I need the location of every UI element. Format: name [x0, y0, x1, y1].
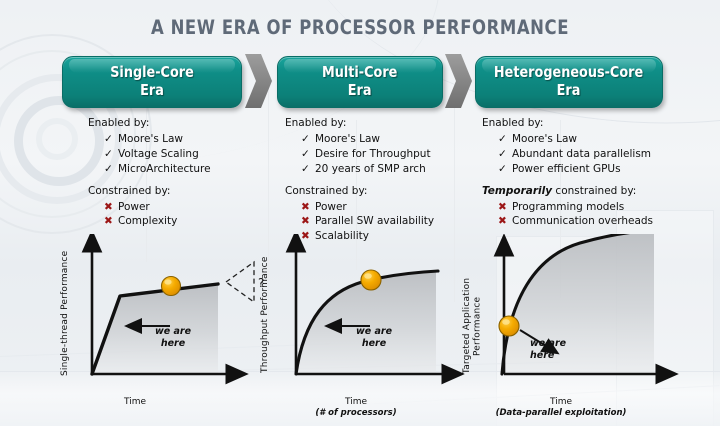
list-item-label: 20 years of SMP arch: [315, 163, 426, 175]
check-icon: ✓: [104, 147, 113, 162]
check-icon: ✓: [301, 147, 310, 162]
cross-icon: ✖: [301, 214, 310, 229]
list-item: ✓Moore's Law: [104, 132, 278, 147]
list-item: ✖Power: [104, 200, 278, 215]
era-box-label-line1: Heterogeneous-Core: [494, 63, 643, 81]
list-item: ✓20 years of SMP arch: [301, 162, 485, 177]
chart-annotation-we-are-here: we are here: [340, 326, 408, 349]
cross-icon: ✖: [104, 214, 113, 229]
list-item: ✓Moore's Law: [498, 132, 712, 147]
slide-canvas: A NEW ERA OF PROCESSOR PERFORMANCE Singl…: [0, 0, 720, 426]
list-item-label: Power efficient GPUs: [512, 163, 621, 175]
annotation-line2: here: [161, 338, 185, 349]
chart-y-axis-label: Single-thread Performance: [60, 238, 71, 388]
page-title: A NEW ERA OF PROCESSOR PERFORMANCE: [22, 16, 699, 39]
chart-x-axis-label: Time: [30, 397, 240, 407]
enabled-header: Enabled by:: [482, 116, 712, 131]
chart-annotation-we-are-here: we are here: [138, 326, 208, 349]
era-box-label-line1: Single-Core: [110, 63, 194, 81]
list-item-label: Moore's Law: [315, 133, 380, 145]
bullets-multi-core: Enabled by: ✓Moore's Law ✓Desire for Thr…: [285, 116, 485, 244]
list-item: ✓MicroArchitecture: [104, 162, 278, 177]
era-box-heterogeneous-core[interactable]: Heterogeneous-Core Era: [475, 56, 663, 108]
enabled-list: ✓Moore's Law ✓Voltage Scaling ✓MicroArch…: [88, 132, 278, 177]
list-item: ✖Communication overheads: [498, 214, 712, 229]
enabled-header: Enabled by:: [285, 116, 485, 131]
chart-y-axis-label: Targeted Application Performance: [462, 270, 483, 382]
bullets-heterogeneous-core: Enabled by: ✓Moore's Law ✓Abundant data …: [482, 116, 712, 229]
check-icon: ✓: [498, 147, 507, 162]
enabled-list: ✓Moore's Law ✓Abundant data parallelism …: [482, 132, 712, 177]
chart-y-axis-label: Throughput Performance: [260, 240, 271, 390]
cross-icon: ✖: [104, 200, 113, 215]
annotation-line1: we are: [155, 326, 191, 337]
y-axis-label-line1: Targeted Application: [462, 278, 472, 374]
chart-single-thread-performance: Single-thread Performance we are here ? …: [58, 234, 268, 414]
list-item: ✓Desire for Throughput: [301, 147, 485, 162]
chart-throughput-performance: Throughput Performance we are here Time …: [258, 234, 474, 414]
check-icon: ✓: [104, 132, 113, 147]
annotation-line1: we are: [530, 338, 566, 349]
list-item: ✓Moore's Law: [301, 132, 485, 147]
era-box-label-line2: Era: [557, 81, 581, 99]
arrow-single-to-multi-icon: [243, 52, 273, 110]
y-axis-label-line2: Performance: [472, 296, 482, 355]
list-item: ✓Power efficient GPUs: [498, 162, 712, 177]
annotation-line2: here: [530, 350, 554, 361]
chart-x-axis-label: Time: [436, 397, 686, 407]
list-item-label: Voltage Scaling: [118, 148, 199, 160]
list-item-label: Power: [118, 201, 150, 213]
constrained-list: ✖Programming models ✖Communication overh…: [482, 200, 712, 230]
list-item-label: Programming models: [512, 201, 624, 213]
era-box-single-core[interactable]: Single-Core Era: [62, 56, 242, 108]
list-item-label: Desire for Throughput: [315, 148, 431, 160]
constrained-header: Constrained by:: [88, 184, 278, 199]
era-box-label-line2: Era: [348, 81, 372, 99]
list-item-label: Abundant data parallelism: [512, 148, 651, 160]
list-item: ✖Complexity: [104, 214, 278, 229]
era-box-label-line1: Multi-Core: [322, 63, 397, 81]
constrained-header: Constrained by:: [285, 184, 485, 199]
list-item-label: Communication overheads: [512, 215, 653, 227]
constrained-list: ✖Power ✖Complexity: [88, 200, 278, 230]
chart-x-axis-label: Time: [248, 397, 464, 407]
era-box-multi-core[interactable]: Multi-Core Era: [277, 56, 443, 108]
constrained-header: Temporarily constrained by:: [482, 184, 712, 199]
check-icon: ✓: [498, 132, 507, 147]
list-item: ✖Power: [301, 200, 485, 215]
era-box-label-line2: Era: [140, 81, 164, 99]
list-item: ✓Abundant data parallelism: [498, 147, 712, 162]
chart-x-axis-sublabel: (# of processors): [248, 408, 464, 418]
arrow-multi-to-hetero-icon: [443, 52, 473, 110]
cross-icon: ✖: [301, 200, 310, 215]
enabled-header: Enabled by:: [88, 116, 278, 131]
chart-annotation-we-are-here: we are here: [530, 338, 600, 361]
constrained-header-rest: constrained by:: [552, 185, 636, 197]
list-item-label: Moore's Law: [512, 133, 577, 145]
chart-targeted-application-performance: Targeted Application Performance we are …: [458, 234, 708, 414]
check-icon: ✓: [498, 162, 507, 177]
list-item-label: Complexity: [118, 215, 177, 227]
list-item-label: Parallel SW availability: [315, 215, 434, 227]
chart-x-axis-sublabel: (Data-parallel exploitation): [436, 408, 686, 418]
check-icon: ✓: [104, 162, 113, 177]
constrained-header-emphasis: Temporarily: [482, 185, 552, 197]
check-icon: ✓: [301, 132, 310, 147]
list-item-label: Moore's Law: [118, 133, 183, 145]
list-item-label: MicroArchitecture: [118, 163, 211, 175]
cross-icon: ✖: [498, 200, 507, 215]
list-item: ✓Voltage Scaling: [104, 147, 278, 162]
cross-icon: ✖: [498, 214, 507, 229]
enabled-list: ✓Moore's Law ✓Desire for Throughput ✓20 …: [285, 132, 485, 177]
annotation-line2: here: [362, 338, 386, 349]
list-item: ✖Parallel SW availability: [301, 214, 485, 229]
bullets-single-core: Enabled by: ✓Moore's Law ✓Voltage Scalin…: [88, 116, 278, 229]
list-item: ✖Programming models: [498, 200, 712, 215]
list-item-label: Power: [315, 201, 347, 213]
check-icon: ✓: [301, 162, 310, 177]
annotation-line1: we are: [356, 326, 392, 337]
